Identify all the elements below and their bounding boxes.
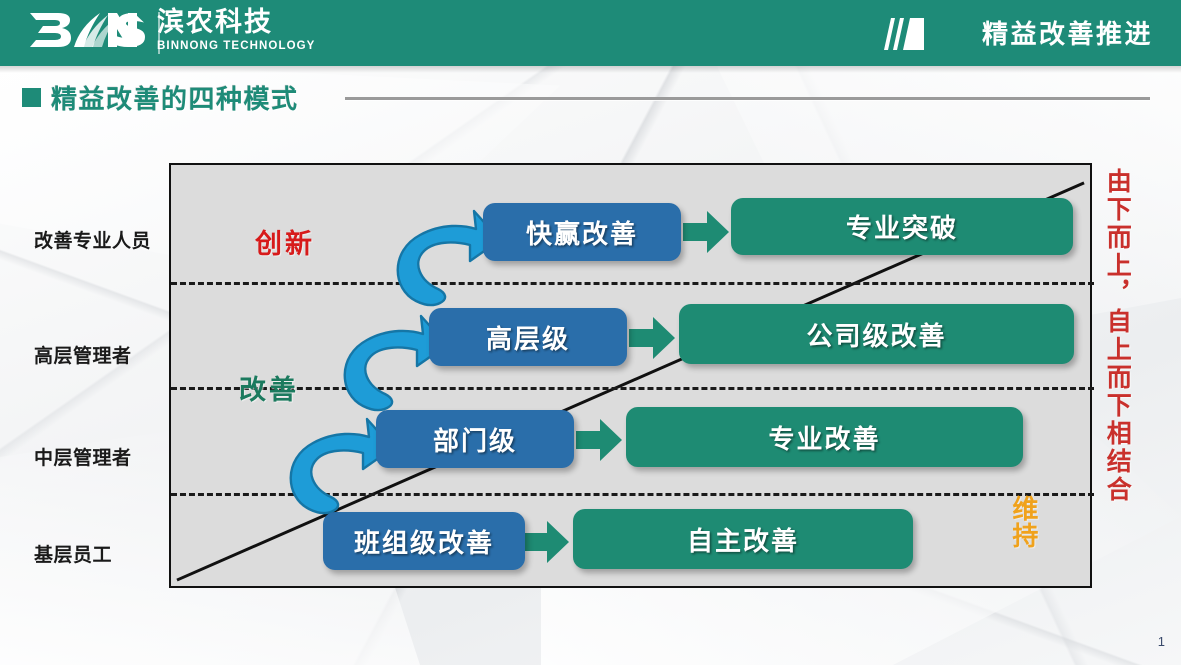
slide-canvas: 滨农科技 BINNONG TECHNOLOGY 精益改善推进 精益改善的四种模式… [0,0,1181,665]
level-label-specialist: 改善专业人员 [34,226,151,253]
brand-name-en: BINNONG TECHNOLOGY [157,41,315,53]
logo-divider [158,12,160,54]
right-vertical-caption: 由下而上，自上而下相结合 [1104,168,1130,583]
level-label-frontline-staff: 基层员工 [34,540,112,567]
diagram-panel: 快赢改善 专业突破 高层级 公司级改善 部门级 专业改善 班组级改善 自主改善 … [169,163,1092,588]
node-green-row0[interactable]: 专业突破 [731,198,1073,255]
band-separator [171,387,1094,390]
node-blue-row0[interactable]: 快赢改善 [483,203,681,261]
right-arrow-icon [523,521,569,563]
slanted-bars-icon [878,18,930,50]
node-green-row3[interactable]: 自主改善 [573,509,913,569]
right-arrow-icon [629,317,675,359]
node-blue-row1[interactable]: 高层级 [429,308,627,366]
page-title-text: 精益改善的四种模式 [51,79,299,116]
title-rule-divider [345,97,1150,100]
annotation-maintain: 维持 [1007,495,1037,549]
band-separator [171,282,1094,285]
node-green-row2[interactable]: 专业改善 [626,407,1023,467]
level-label-middle-manager: 中层管理者 [34,443,132,470]
bns-logo-icon [28,7,146,55]
brand-name-cn: 滨农科技 [157,9,315,36]
page-title: 精益改善的四种模式 [22,79,299,116]
header-title: 精益改善推进 [982,14,1153,51]
node-blue-row2[interactable]: 部门级 [376,410,574,468]
brand-logo: 滨农科技 BINNONG TECHNOLOGY [28,7,315,55]
slide-header: 滨农科技 BINNONG TECHNOLOGY 精益改善推进 [0,0,1181,66]
annotation-kaizen: 改善 [239,368,299,407]
right-arrow-icon [683,211,729,253]
right-arrow-icon [576,419,622,461]
node-blue-row3[interactable]: 班组级改善 [323,512,525,570]
header-shadow [0,66,1181,73]
node-green-row1[interactable]: 公司级改善 [679,304,1074,364]
page-number: 1 [1158,634,1165,649]
annotation-innovation: 创新 [255,222,315,261]
level-label-senior-manager: 高层管理者 [34,341,132,368]
title-bullet-icon [22,88,41,107]
